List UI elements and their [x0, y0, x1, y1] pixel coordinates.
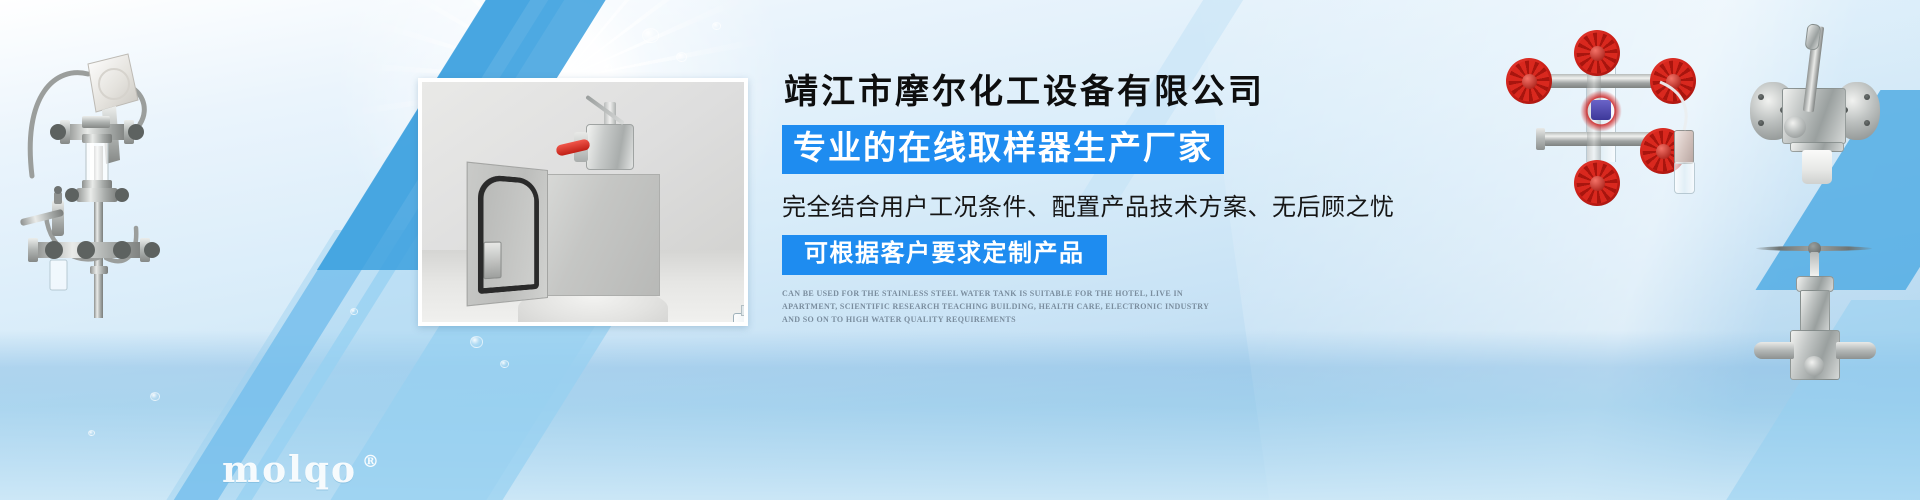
cabinet-latch	[483, 242, 501, 280]
subline-text: 完全结合用户工况条件、配置产品技术方案、无后顾之忧	[782, 187, 1402, 222]
background-horizon	[0, 330, 1920, 500]
water-drop-icon	[150, 392, 160, 401]
water-drop-icon	[88, 430, 95, 436]
flange-bolt	[1864, 94, 1870, 100]
flange-bolt	[1864, 120, 1870, 126]
valve-body	[586, 124, 634, 170]
cabinet-top-valve	[562, 102, 654, 180]
water-drop-icon	[500, 360, 509, 368]
watermark-text: molqo	[222, 452, 357, 488]
headline-badge: 专业的在线取样器生产厂家	[782, 125, 1224, 174]
product-image-gate-valve	[1738, 230, 1888, 390]
banner-text-block: 靖江市摩尔化工设备有限公司 专业的在线取样器生产厂家 完全结合用户工况条件、配置…	[782, 74, 1402, 327]
custom-product-badge: 可根据客户要求定制产品	[782, 235, 1107, 275]
online-sampler-illustration	[10, 28, 190, 318]
product-image-lever-valve	[1750, 30, 1880, 210]
watermark-logo: molqo ®	[222, 452, 379, 488]
outlet-cup	[1802, 150, 1832, 184]
english-description: CAN BE USED FOR THE STAINLESS STEEL WATE…	[782, 287, 1212, 327]
valve-logo-plate	[1784, 116, 1806, 138]
cabinet-body	[544, 174, 660, 296]
sample-tube-line	[1508, 34, 1698, 184]
water-drop-icon	[712, 22, 721, 30]
flange-bolt	[1758, 120, 1764, 126]
promo-banner: 靖江市摩尔化工设备有限公司 专业的在线取样器生产厂家 完全结合用户工况条件、配置…	[0, 0, 1920, 500]
sample-bottle	[733, 313, 744, 322]
product-image-online-sampler	[10, 28, 190, 318]
company-name: 靖江市摩尔化工设备有限公司	[782, 74, 1402, 111]
product-photo-inner	[422, 82, 744, 322]
valve-flange	[1836, 342, 1876, 359]
cabinet-door	[467, 162, 548, 307]
water-drop-icon	[642, 28, 659, 43]
valve-flange	[1754, 342, 1794, 359]
flange-bolt	[1758, 94, 1764, 100]
water-drop-icon	[676, 52, 687, 62]
water-drop-icon	[470, 336, 483, 348]
product-photo-sampler-cabinet	[418, 78, 748, 326]
water-drop-icon	[604, 64, 612, 71]
registered-trademark-icon: ®	[362, 454, 379, 471]
product-image-cross-valve	[1508, 34, 1698, 184]
water-drop-icon	[350, 308, 358, 315]
valve-logo-plate	[1804, 356, 1824, 376]
